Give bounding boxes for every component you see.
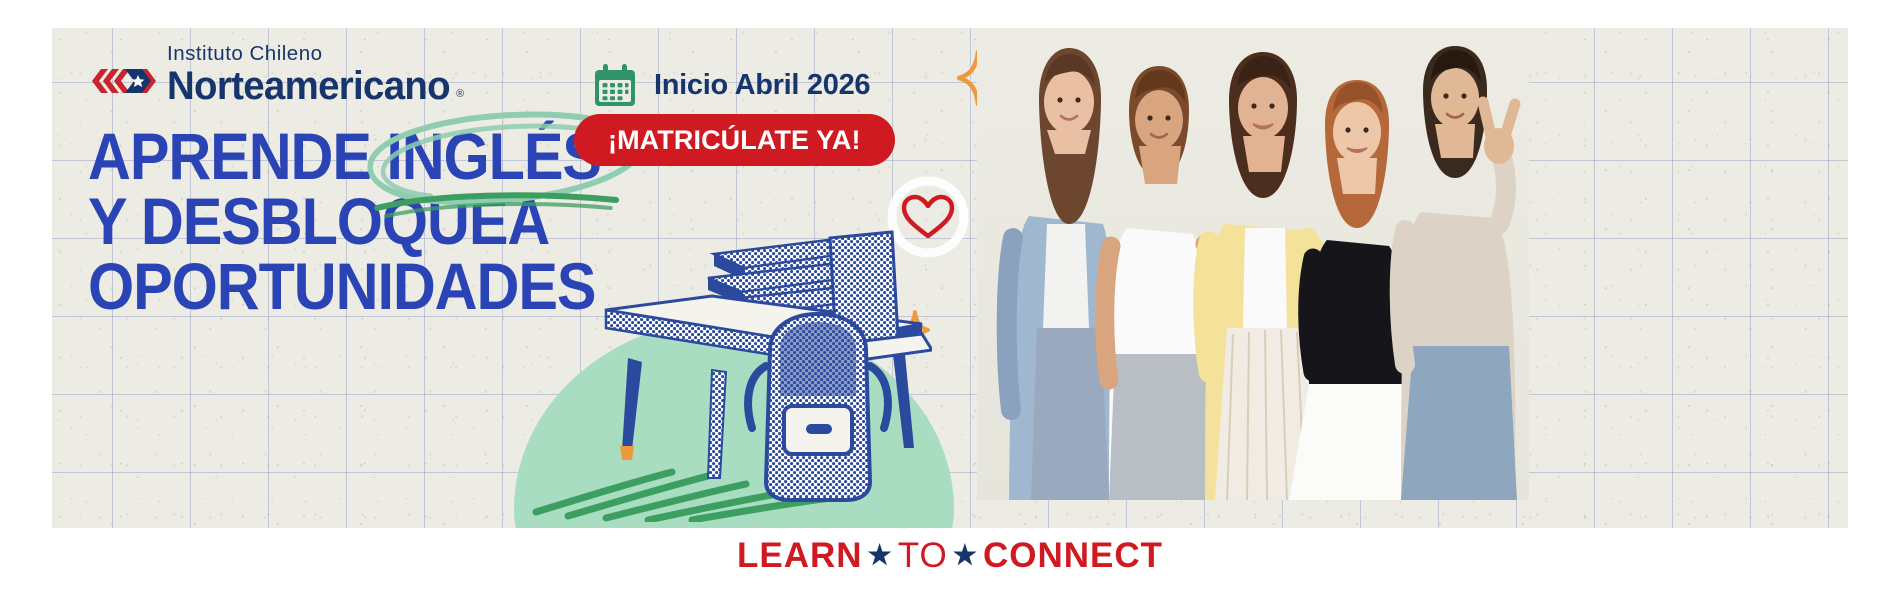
- logo-wordmark: Instituto Chileno Norteamericano ®: [167, 44, 462, 106]
- logo-top-line: Instituto Chileno: [167, 44, 462, 65]
- headline-line-3: OPORTUNIDADES: [88, 254, 682, 319]
- chevron-flag-diamond-icon: [90, 59, 158, 103]
- calendar-icon: [592, 62, 638, 109]
- headline-line-2: Y DESBLOQUEA: [88, 189, 682, 254]
- green-blob-shape: [514, 318, 954, 528]
- stacked-books-icon: [704, 240, 868, 330]
- star-icon: ★: [948, 540, 983, 570]
- start-date-text: Inicio Abril 2026: [654, 69, 870, 102]
- sparkle-icon: [900, 310, 930, 350]
- headline-line1-pre: APRENDE: [88, 119, 386, 193]
- logo-main-line: Norteamericano ®: [167, 66, 450, 106]
- teens-group-photo: [977, 28, 1529, 500]
- headline-highlight-word: INGLÉS: [386, 124, 601, 189]
- tagline-word-learn: LEARN: [737, 536, 863, 575]
- star-icon: ★: [863, 540, 898, 570]
- headline-highlight-text: INGLÉS: [386, 119, 601, 193]
- promo-banner: Instituto Chileno Norteamericano ® APREN…: [0, 0, 1900, 600]
- banner-card: Instituto Chileno Norteamericano ® APREN…: [52, 28, 1848, 528]
- institute-logo[interactable]: Instituto Chileno Norteamericano ®: [90, 44, 462, 106]
- logo-main-text: Norteamericano: [167, 64, 450, 108]
- tagline-word-to: TO: [898, 536, 948, 575]
- enroll-now-button[interactable]: ¡MATRICÚLATE YA!: [574, 114, 895, 166]
- start-date-row: Inicio Abril 2026: [592, 62, 870, 109]
- registered-mark: ®: [456, 89, 463, 100]
- tagline: LEARN★TO★CONNECT: [0, 536, 1900, 576]
- heart-icon: [882, 176, 974, 262]
- tagline-word-connect: CONNECT: [983, 536, 1163, 575]
